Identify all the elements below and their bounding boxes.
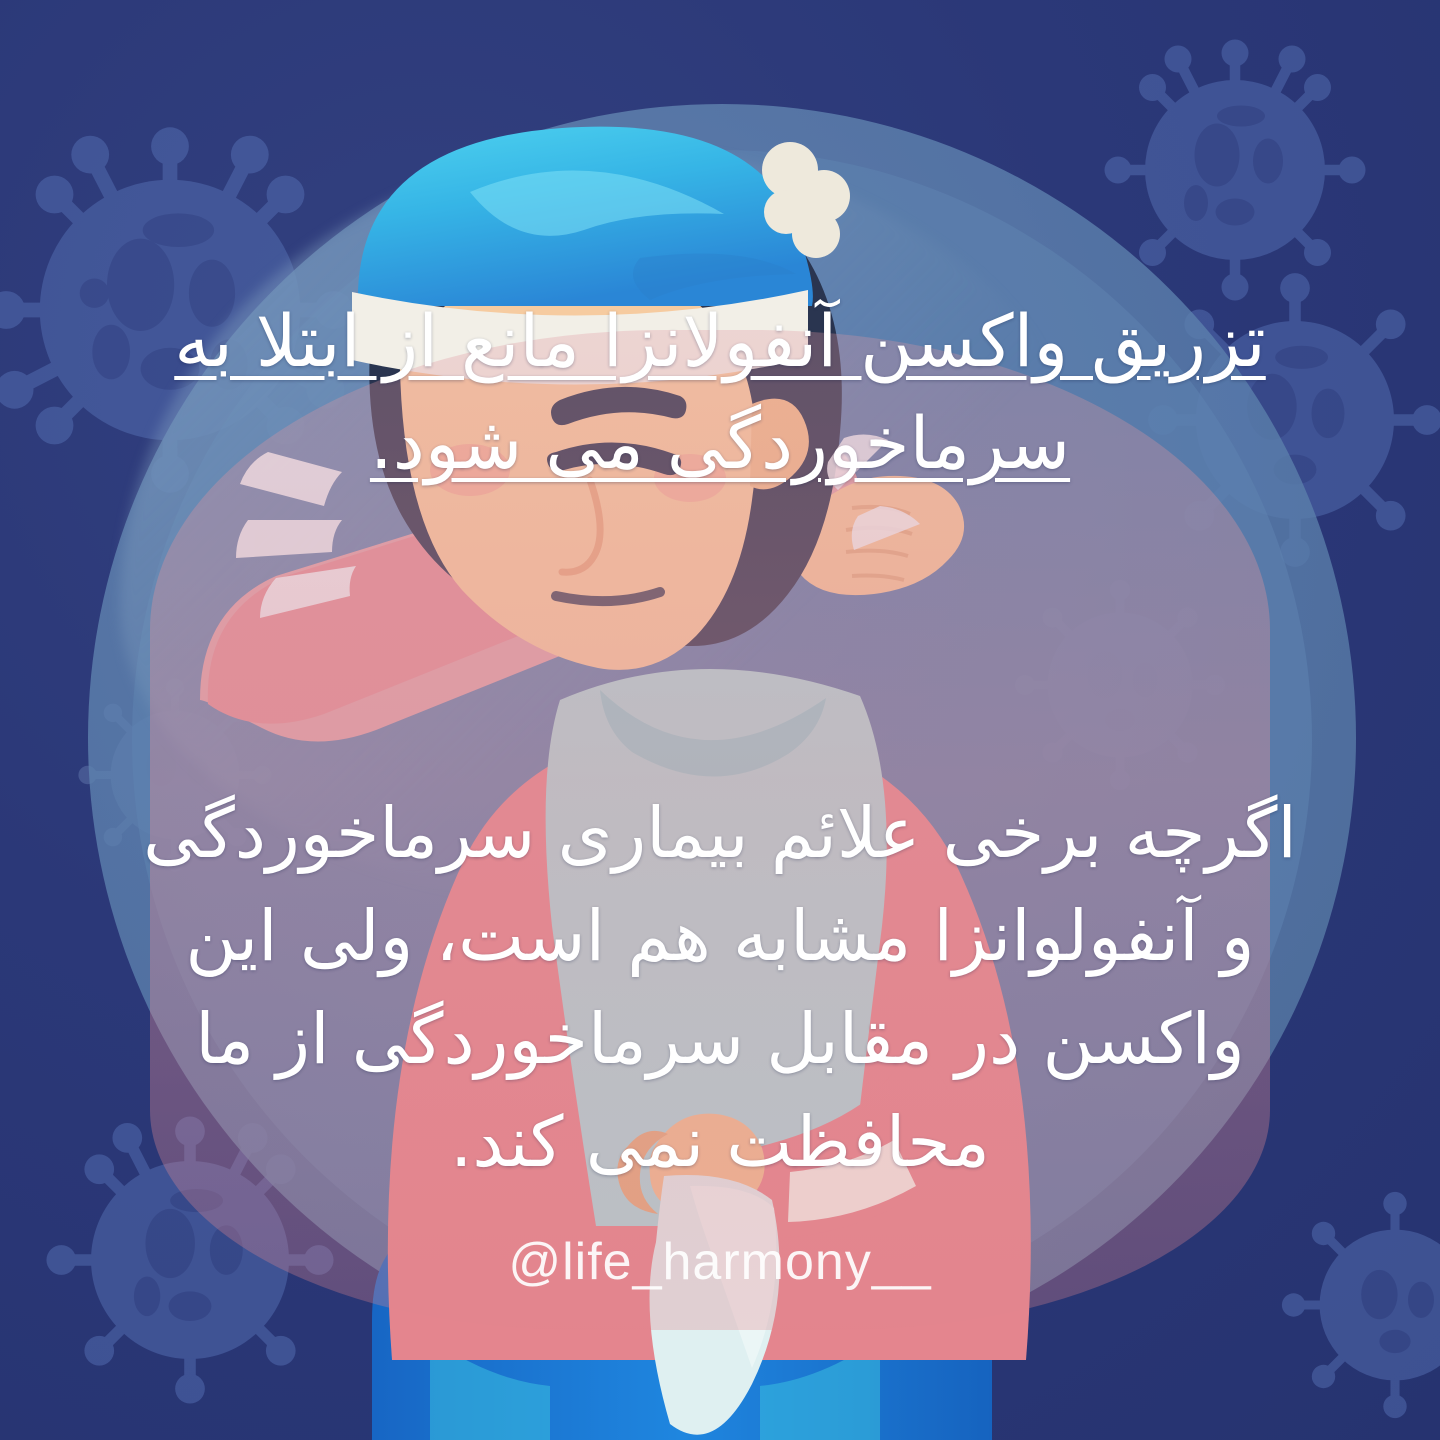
- instagram-post-canvas: تزریق واکسن آنفولانزا مانع از ابتلا به س…: [0, 0, 1440, 1440]
- body-text: اگرچه برخی علائم بیماری سرماخوردگی و آنف…: [120, 782, 1320, 1194]
- sneezing-person-illustration: [0, 0, 1440, 1440]
- account-handle-watermark: @life_harmony__: [0, 1232, 1440, 1292]
- headline-text: تزریق واکسن آنفولانزا مانع از ابتلا به س…: [100, 290, 1340, 494]
